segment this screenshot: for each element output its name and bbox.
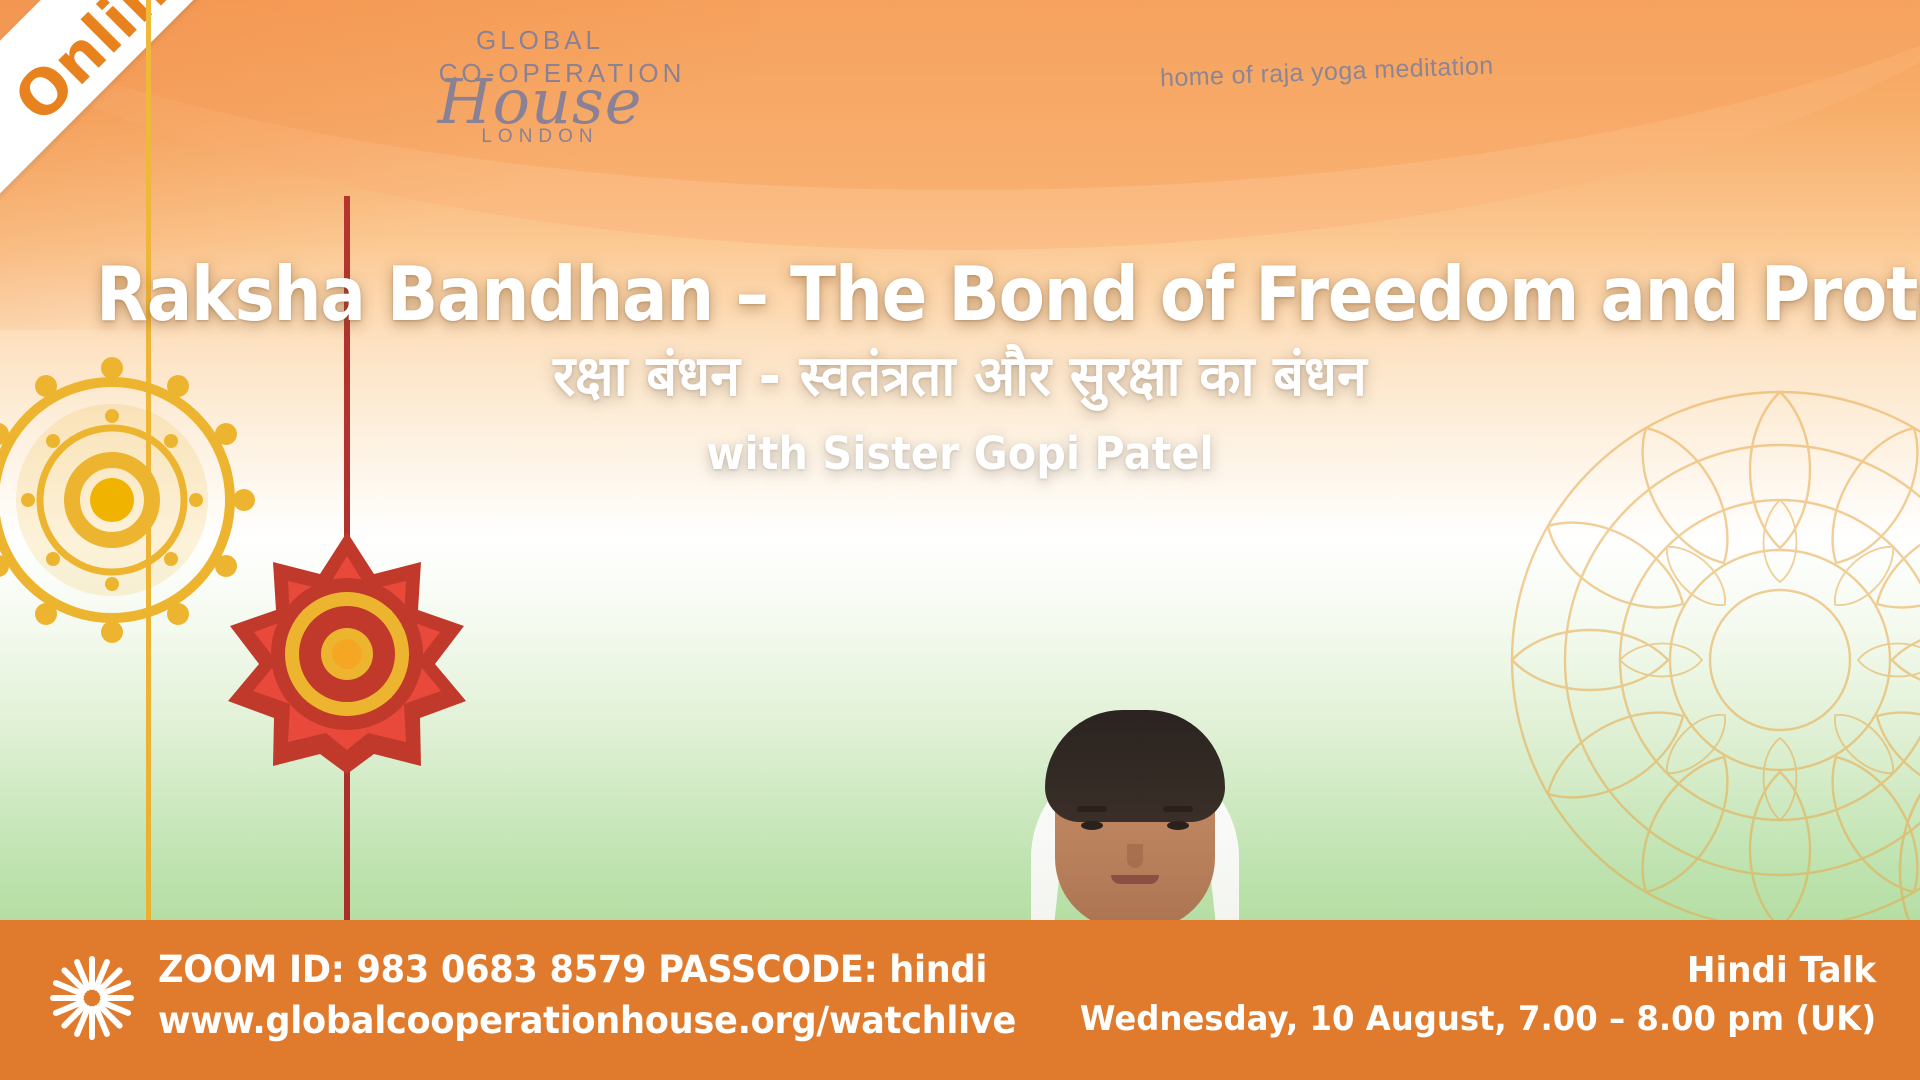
website-line[interactable]: www.globalcooperationhouse.org/watchlive <box>158 995 1016 1046</box>
sunburst-icon <box>48 954 136 1042</box>
logo-line-global: GLOBAL <box>375 24 705 57</box>
title-hindi: रक्षा बंधन - स्वतंत्रता और सुरक्षा का बं… <box>38 339 1881 415</box>
footer-schedule-details: Hindi Talk Wednesday, 10 August, 7.00 – … <box>1038 946 1876 1043</box>
zoom-id-line: ZOOM ID: 983 0683 8579 PASSCODE: hindi <box>158 944 1016 995</box>
organisation-logo: GLOBAL CO-OPERATION House LONDON <box>375 24 705 164</box>
speaker-brow-left <box>1077 806 1107 812</box>
speaker-eye-left <box>1081 821 1103 830</box>
headline-block: Raksha Bandhan – The Bond of Freedom and… <box>0 255 1920 480</box>
title-english: Raksha Bandhan – The Bond of Freedom and… <box>96 255 1824 333</box>
speaker-mouth <box>1111 875 1159 884</box>
speaker-brow-right <box>1163 806 1193 812</box>
schedule-label: Wednesday, 10 August, 7.00 – 8.00 pm (UK… <box>1080 996 1876 1043</box>
footer-joining-details: ZOOM ID: 983 0683 8579 PASSCODE: hindi w… <box>158 944 1016 1046</box>
speaker-hair <box>1045 710 1225 822</box>
logo-line-london: LONDON <box>375 126 705 148</box>
speaker-eye-right <box>1167 821 1189 830</box>
red-rakhi-icon <box>222 528 472 778</box>
presenter-line: with Sister Gopi Patel <box>77 427 1843 480</box>
speaker-nose <box>1127 844 1143 868</box>
event-poster: Online GLOBAL CO-OPERATION House LONDON … <box>0 0 1920 1080</box>
talk-type-label: Hindi Talk <box>1080 946 1876 996</box>
footer-bar: ZOOM ID: 983 0683 8579 PASSCODE: hindi w… <box>0 920 1920 1080</box>
